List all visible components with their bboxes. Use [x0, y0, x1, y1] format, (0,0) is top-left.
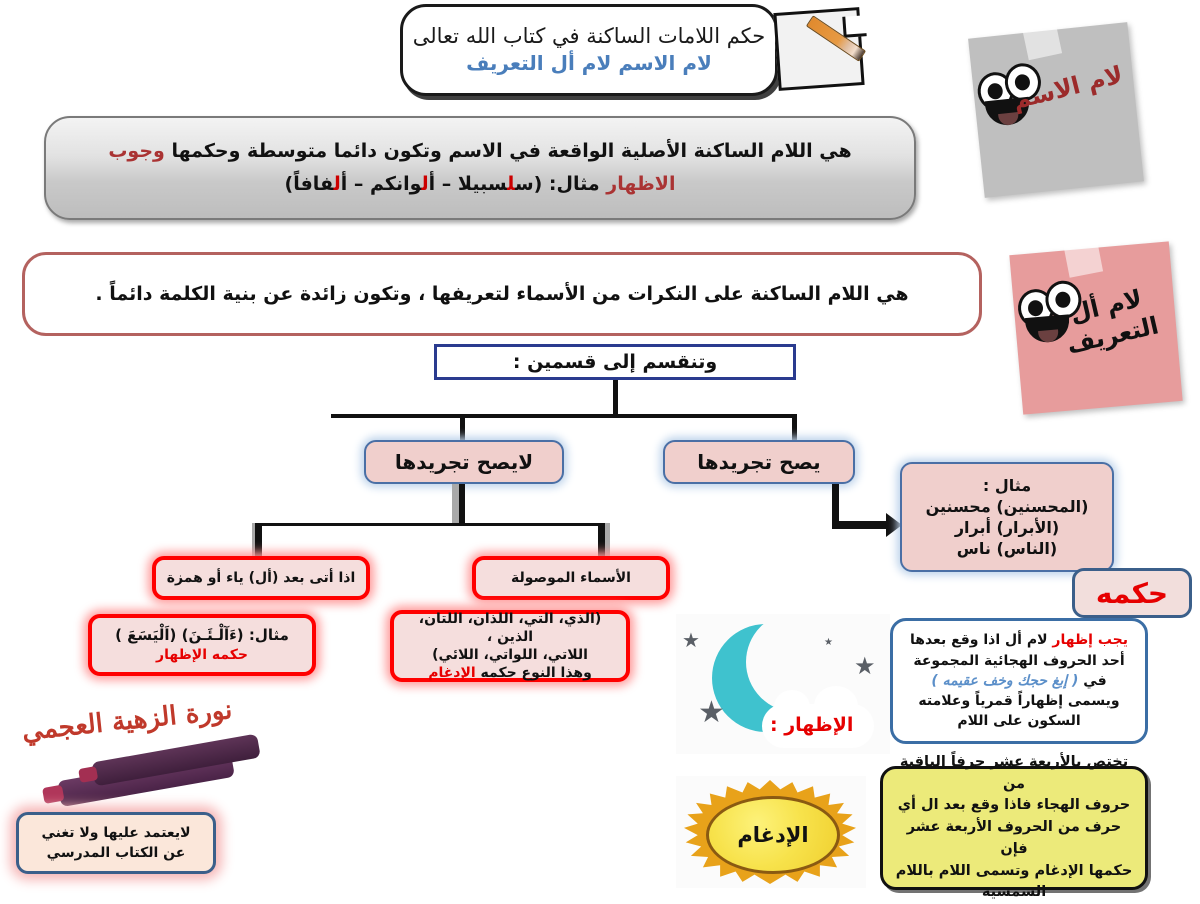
connector-to-left-branch [460, 414, 465, 442]
sticky-note-body: لام الاسم [968, 22, 1144, 198]
idgham-line-3: حرف من الحروف الأربعة عشر فإن [893, 817, 1135, 861]
noun-laam-ex1-red: ل [507, 173, 515, 195]
sub-right-rule: وهذا النوع حكمه الإدغام [428, 664, 592, 682]
idgham-line-4: حكمها الإدغام وتسمى اللام باللام [896, 861, 1133, 883]
connector-left-branch-horizontal [258, 523, 608, 526]
branch-node-strippable[interactable]: يصح تجريدها [663, 440, 855, 484]
sub-left-rule: حكمه الإظهار [156, 646, 248, 664]
noun-laam-ex1-rest: سبيلا – أ [429, 173, 508, 195]
noun-laam-ex2-red: ل [422, 173, 429, 195]
title-line-1: حكم اللامات الساكنة في كتاب الله تعالى [413, 23, 766, 49]
izhar-letters-mnemonic: ( إبغ حجك وخف عقيمه ) [931, 673, 1078, 689]
idgham-line-1: تختص بالأربعة عشر حرفاً الباقية من [893, 752, 1135, 796]
izhar-line-1-rest: لام أل اذا وقع بعدها [910, 632, 1052, 648]
disclaimer-line-2: عن الكتاب المدرسي [47, 843, 186, 863]
connector-to-right-branch [792, 414, 797, 442]
definition-text: هي اللام الساكنة على النكرات من الأسماء … [95, 283, 908, 305]
moon-illustration: ★ ★ ★ ★ الإظهار : [676, 614, 890, 754]
sub-box-example-izhar[interactable]: مثال: (ءَآلْـئَـنَ) (اَلْيَسَعَ ) حكمه ا… [88, 614, 316, 676]
sub-right-list-1: (الذي، التي، اللذان، اللتان، الذين ، [402, 610, 618, 646]
connector-split-vertical [613, 380, 618, 416]
example-line-1: (المحسنين) محسنين [926, 496, 1089, 517]
disclaimer-line-1: لايعتمد عليها ولا تغني [41, 823, 190, 843]
izhar-line-1: يجب إظهار لام أل اذا وقع بعدها [910, 630, 1128, 650]
tape-shape [1021, 14, 1063, 60]
paper-pencil-icon [770, 6, 870, 90]
example-line-0: مثال : [983, 475, 1031, 496]
sub-right-list-2: اللاتي، اللواتي، اللائي) [432, 646, 588, 664]
status-badge-hukm: حكمه [1072, 568, 1192, 618]
connector-to-sub-left [255, 523, 262, 559]
sticky-note-body: لام أل التعريف [1009, 241, 1182, 414]
example-line-2: (الأبرار) أبرار [955, 517, 1059, 538]
branch-label-left: لايصح تجريدها [395, 450, 533, 474]
sub-box-relative-pronouns[interactable]: الأسماء الموصولة [472, 556, 670, 600]
sub-right-header: الأسماء الموصولة [511, 569, 631, 587]
izhar-illustration-label: الإظهار : [770, 714, 853, 736]
izhar-explanation-box: يجب إظهار لام أل اذا وقع بعدها أحد الحرو… [890, 618, 1148, 744]
branch-label-right: يصح تجريدها [697, 450, 820, 474]
infographic-canvas: حكم اللامات الساكنة في كتاب الله تعالى ل… [0, 0, 1200, 900]
izhar-line-1-emphasis: يجب إظهار [1052, 632, 1128, 648]
sub-left-header: اذا أتى بعد (أل) ياء أو همزة [167, 569, 355, 587]
sub-right-rule-emphasis: الإدغام [428, 665, 476, 681]
example-node-strippable[interactable]: مثال : (المحسنين) محسنين (الأبرار) أبرار… [900, 462, 1114, 572]
izhar-line-3: في ( إبغ حجك وخف عقيمه ) [931, 671, 1106, 691]
noun-laam-part2: مثال: (س [515, 173, 606, 195]
divides-label: وتنقسم إلى قسمين : [513, 351, 717, 373]
izhar-line-3-prefix: في [1078, 673, 1106, 689]
sub-right-rule-prefix: وهذا النوع حكمه [476, 665, 592, 681]
definite-laam-definition-panel: هي اللام الساكنة على النكرات من الأسماء … [22, 252, 982, 336]
connector-left-branch-vertical [459, 484, 465, 526]
sun-illustration: الإدغام [676, 776, 866, 888]
star-icon: ★ [824, 638, 833, 648]
sub-box-relative-pronouns-list[interactable]: (الذي، التي، اللذان، اللتان، الذين ، الل… [390, 610, 630, 682]
idgham-explanation-box: تختص بالأربعة عشر حرفاً الباقية من حروف … [880, 766, 1148, 890]
example-line-3: (الناس) ناس [957, 538, 1057, 559]
izhar-line-5: السكون على اللام [957, 711, 1080, 731]
star-icon: ★ [682, 630, 700, 650]
sun-core-shape: الإدغام [706, 796, 840, 874]
connector-split-horizontal [331, 414, 797, 418]
hukm-badge-label: حكمه [1096, 577, 1168, 610]
noun-laam-ex3-rest: فافاً) [285, 173, 334, 195]
sticky-note-noun-laam: لام الاسم [966, 30, 1136, 210]
divides-into-two-box: وتنقسم إلى قسمين : [434, 344, 796, 380]
noun-laam-panel: هي اللام الساكنة الأصلية الواقعة في الاس… [44, 116, 916, 220]
arrow-stem-horizontal [832, 521, 890, 529]
connector-to-sub-right [598, 523, 605, 559]
noun-laam-ex3-red: ل [334, 173, 341, 195]
pupil-shape [987, 83, 1004, 100]
star-icon: ★ [698, 698, 725, 728]
tape-shape [1062, 232, 1103, 278]
idgham-line-2: حروف الهجاء فاذا وقع بعد ال أي [898, 795, 1131, 817]
izhar-line-4: ويسمى إظهاراً قمرياً وعلامته [918, 691, 1119, 711]
paper-fold-shape [842, 15, 866, 38]
pupil-shape [1027, 300, 1043, 317]
page-title-box: حكم اللامات الساكنة في كتاب الله تعالى ل… [400, 4, 778, 96]
noun-laam-text: هي اللام الساكنة الأصلية الواقعة في الاس… [76, 135, 884, 202]
sub-box-after-hamza-or-yaa[interactable]: اذا أتى بعد (أل) ياء أو همزة [152, 556, 370, 600]
idgham-illustration-label: الإدغام [737, 823, 808, 847]
disclaimer-box: لايعتمد عليها ولا تغني عن الكتاب المدرسي [16, 812, 216, 874]
branch-node-not-strippable[interactable]: لايصح تجريدها [364, 440, 564, 484]
idgham-line-5: الشمسية [982, 882, 1046, 904]
title-line-2: لام الاسم لام أل التعريف [466, 50, 712, 77]
star-icon: ★ [854, 654, 876, 678]
noun-laam-part1: هي اللام الساكنة الأصلية الواقعة في الاس… [165, 140, 852, 162]
sticky-note-definite-laam: لام أل التعريف [1006, 248, 1176, 428]
noun-laam-ex2-rest: وانكم – أ [341, 173, 422, 195]
sub-left-example: مثال: (ءَآلْـئَـنَ) (اَلْيَسَعَ ) [115, 626, 289, 646]
izhar-line-2: أحد الحروف الهجائية المجموعة [913, 651, 1124, 671]
